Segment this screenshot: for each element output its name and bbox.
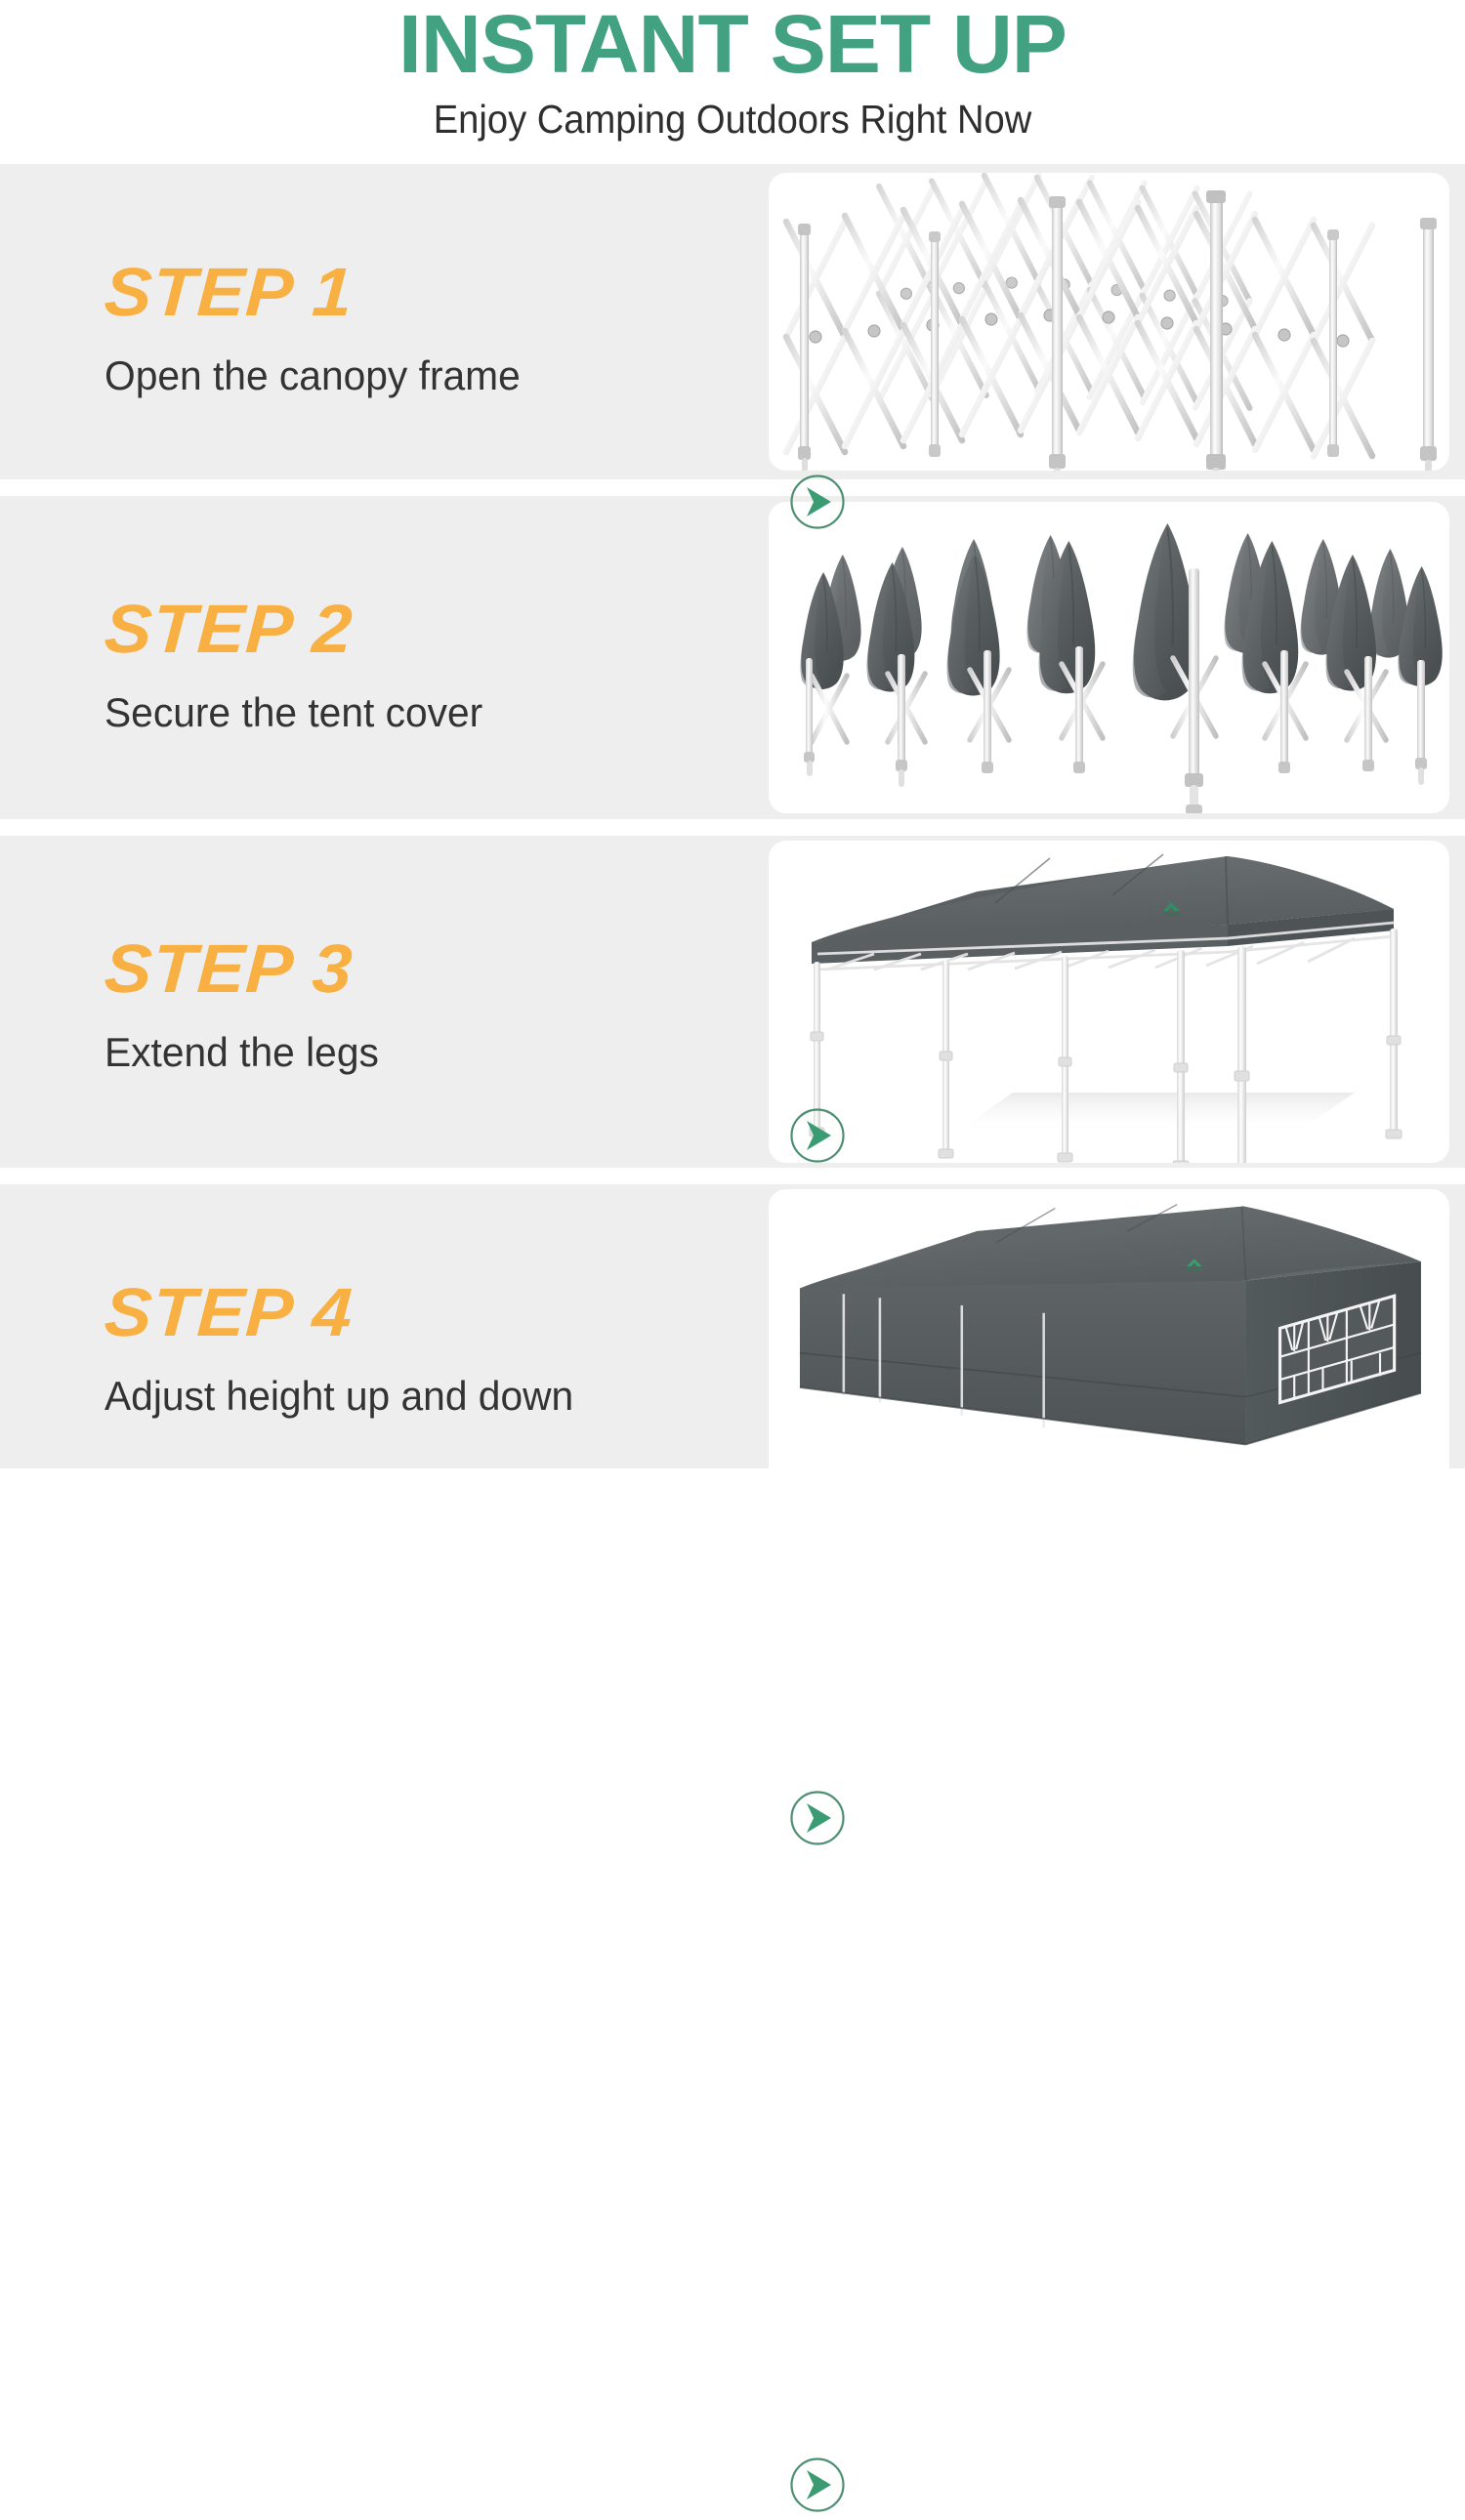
step-4-arrow: [787, 2455, 848, 2515]
step-2-image-card: [769, 502, 1449, 813]
arrow-right-circle-icon: [787, 2455, 848, 2515]
page-subtitle: Enjoy Camping Outdoors Right Now: [52, 92, 1414, 146]
step-4-image-card: [769, 1189, 1449, 1500]
arrow-right-circle-icon: [787, 472, 848, 532]
step-2-text-block: STEP 2 Secure the tent cover: [105, 594, 730, 740]
step-row-1: STEP 1 Open the canopy frame: [0, 164, 1465, 479]
canopy-cover-illustration: [769, 502, 1449, 813]
step-1-image-card: [769, 173, 1449, 471]
step-3-arrow: [787, 1788, 848, 1848]
canopy-erected-illustration: [769, 841, 1449, 1163]
step-1-description: Open the canopy frame: [105, 349, 711, 403]
step-4-label: STEP 4: [103, 1277, 355, 1347]
steps-list: STEP 1 Open the canopy frame: [0, 164, 1465, 1468]
step-row-2: STEP 2 Secure the tent cover: [0, 496, 1465, 819]
step-2-description: Secure the tent cover: [105, 685, 711, 740]
step-2-arrow: [787, 1105, 848, 1166]
arrow-right-circle-icon: [787, 1105, 848, 1166]
header: INSTANT SET UP Enjoy Camping Outdoors Ri…: [0, 0, 1465, 146]
step-row-4: STEP 4 Adjust height up and down: [0, 1184, 1465, 1468]
step-3-description: Extend the legs: [105, 1025, 711, 1080]
step-3-text-block: STEP 3 Extend the legs: [105, 933, 730, 1080]
infographic-page: INSTANT SET UP Enjoy Camping Outdoors Ri…: [0, 0, 1465, 1452]
step-4-text-block: STEP 4 Adjust height up and down: [105, 1277, 730, 1424]
canopy-frame-illustration: [769, 173, 1449, 471]
step-row-3: STEP 3 Extend the legs: [0, 836, 1465, 1168]
step-3-image-card: [769, 841, 1449, 1163]
step-4-description: Adjust height up and down: [105, 1369, 711, 1424]
arrow-right-circle-icon: [787, 1788, 848, 1848]
canopy-sidewalls-illustration: [769, 1189, 1449, 1500]
step-1-arrow: [787, 472, 848, 532]
step-1-label: STEP 1: [103, 257, 355, 327]
page-title: INSTANT SET UP: [0, 2, 1465, 86]
step-1-text-block: STEP 1 Open the canopy frame: [105, 257, 730, 403]
step-2-label: STEP 2: [103, 594, 355, 664]
step-3-label: STEP 3: [103, 933, 355, 1004]
